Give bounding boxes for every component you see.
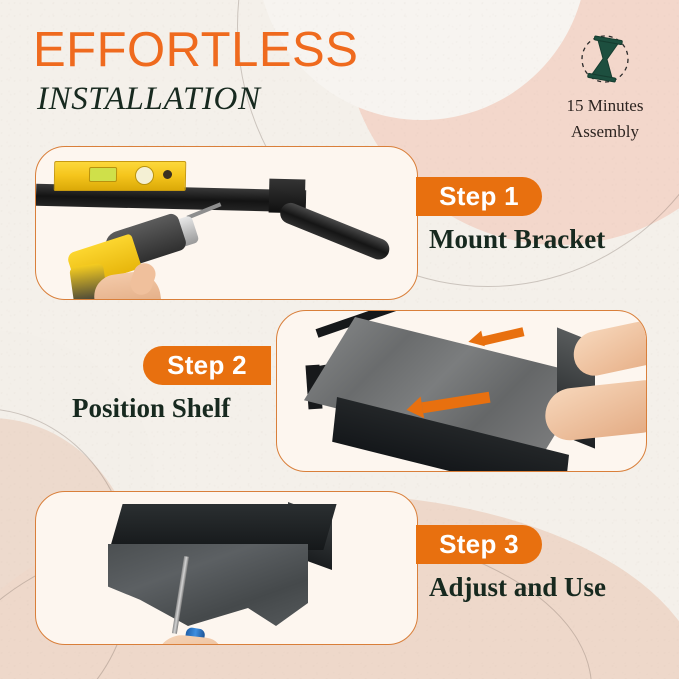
step-3-photo-card — [35, 491, 418, 645]
step-2-photo-card — [276, 310, 647, 472]
assembly-line-1: 15 Minutes — [542, 95, 668, 116]
level-vial-round — [135, 166, 154, 185]
spirit-level-shape — [54, 161, 187, 191]
level-vial-main — [89, 167, 117, 182]
assembly-time-badge: 15 Minutes Assembly — [542, 28, 668, 142]
photo-position-shelf — [277, 311, 646, 471]
shelf-underside-shape — [108, 544, 308, 626]
step-3-badge: Step 3 — [416, 525, 542, 564]
page-title: EFFORTLESS INSTALLATION — [33, 24, 358, 119]
headline-secondary: INSTALLATION — [37, 79, 358, 119]
bracket-rod-shape — [277, 200, 392, 263]
step-1-title: Mount Bracket — [429, 224, 605, 255]
step-2-badge: Step 2 — [143, 346, 271, 385]
step-1-badge: Step 1 — [416, 177, 542, 216]
headline-primary: EFFORTLESS — [33, 24, 358, 76]
step-1-photo-card — [35, 146, 418, 300]
infographic-canvas: EFFORTLESS INSTALLATION 15 Minutes Assem… — [0, 0, 679, 679]
shelf-top-edge-shape — [109, 504, 336, 550]
hand-upper-pushing-shelf — [569, 319, 646, 380]
step-2-title: Position Shelf — [72, 393, 230, 424]
photo-adjust-and-use — [36, 492, 417, 644]
assembly-line-2: Assembly — [542, 121, 668, 142]
hourglass-icon — [542, 28, 668, 90]
photo-mount-bracket — [36, 147, 417, 299]
step-3-title: Adjust and Use — [429, 572, 606, 603]
level-hole — [163, 170, 172, 179]
